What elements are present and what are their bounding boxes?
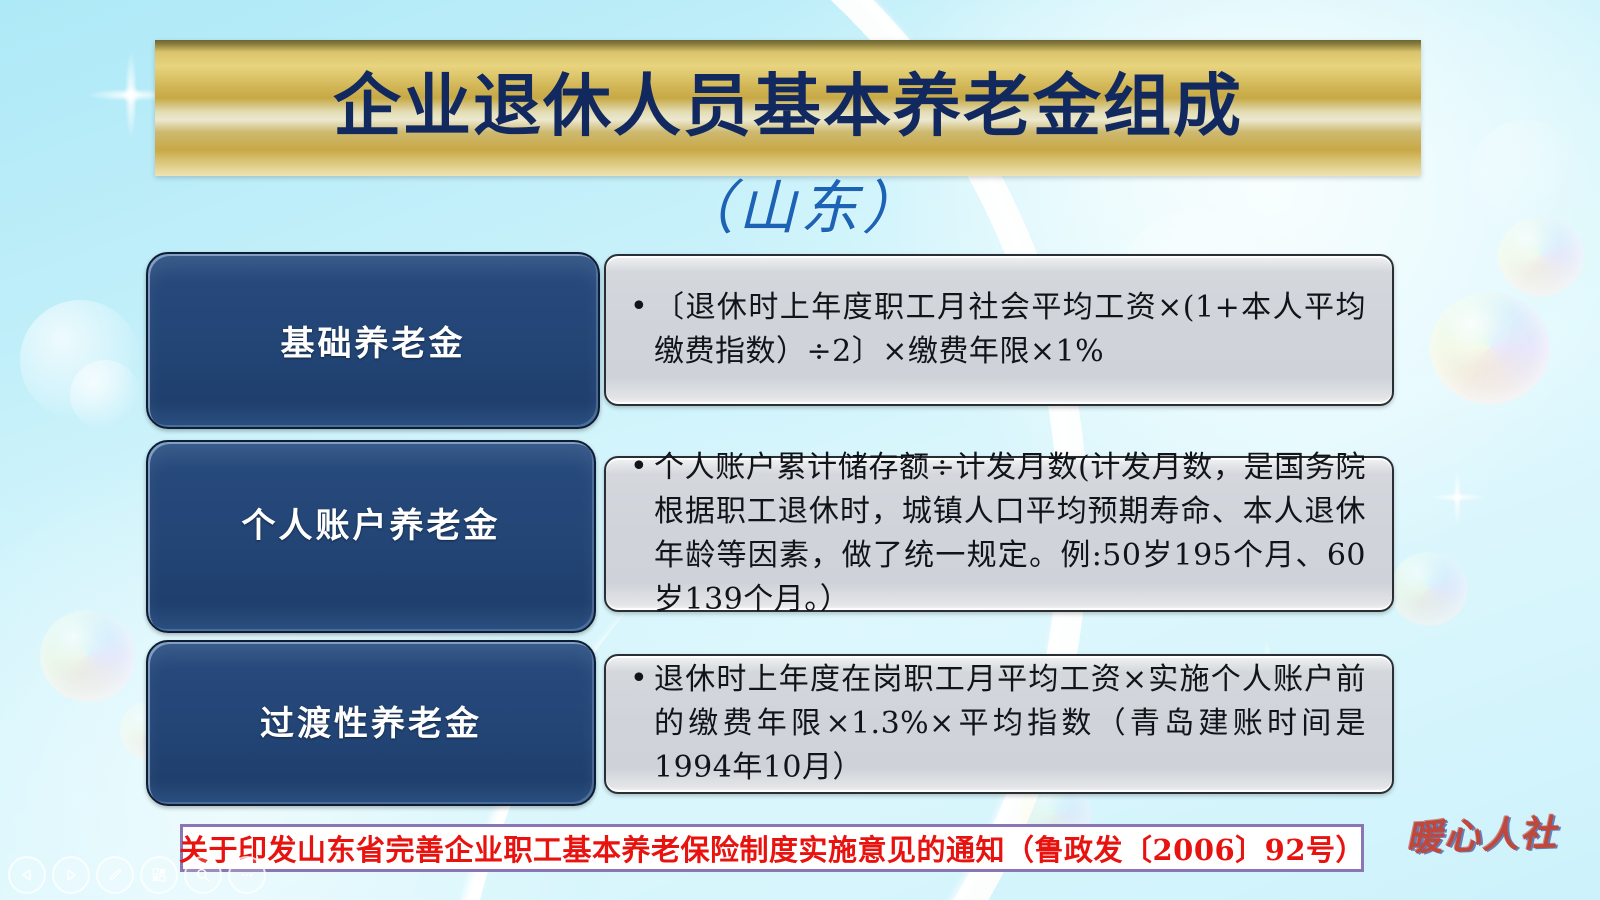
bullet-list: 〔退休时上年度职工月社会平均工资×(1+本人平均缴费指数）÷2〕×缴费年限×1% <box>628 286 1366 374</box>
list-item: 个人账户累计储存额÷计发月数(计发月数，是国务院根据职工退休时，城镇人口平均预期… <box>654 446 1366 621</box>
ellipsis-icon <box>239 867 255 883</box>
previous-slide-button[interactable] <box>8 856 46 894</box>
list-item: 退休时上年度在岗职工月平均工资×实施个人账户前的缴费年限×1.3%×平均指数（青… <box>654 658 1366 789</box>
bullet-list: 退休时上年度在岗职工月平均工资×实施个人账户前的缴费年限×1.3%×平均指数（青… <box>628 658 1366 789</box>
next-slide-button[interactable] <box>52 856 90 894</box>
triangle-left-icon <box>20 868 34 882</box>
row-label-transitional-pension[interactable]: 过渡性养老金 <box>146 640 596 806</box>
slideshow-toolbar <box>8 856 266 894</box>
row-content-transitional-pension: 退休时上年度在岗职工月平均工资×实施个人账户前的缴费年限×1.3%×平均指数（青… <box>604 654 1394 794</box>
row-label-basic-pension[interactable]: 基础养老金 <box>146 252 600 429</box>
pen-icon <box>107 867 123 883</box>
zoom-button[interactable] <box>184 856 222 894</box>
magnifier-icon <box>195 867 211 883</box>
row-label-text: 个人账户养老金 <box>242 498 501 547</box>
more-options-button[interactable] <box>228 856 266 894</box>
list-item: 〔退休时上年度职工月社会平均工资×(1+本人平均缴费指数）÷2〕×缴费年限×1% <box>654 286 1366 374</box>
bullet-list: 个人账户累计储存额÷计发月数(计发月数，是国务院根据职工退休时，城镇人口平均预期… <box>628 446 1366 621</box>
pen-tool-button[interactable] <box>96 856 134 894</box>
footnote-text: 关于印发山东省完善企业职工基本养老保险制度实施意见的通知（鲁政发〔2006〕92… <box>179 827 1365 869</box>
row-label-text: 过渡性养老金 <box>260 696 482 745</box>
triangle-right-icon <box>64 868 78 882</box>
row-label-text: 基础养老金 <box>281 316 466 365</box>
slide-grid-button[interactable] <box>140 856 178 894</box>
presentation-slide: 企业退休人员基本养老金组成 （山东） 基础养老金 〔退休时上年度职工月社会平均工… <box>0 0 1600 900</box>
row-content-personal-account-pension: 个人账户累计储存额÷计发月数(计发月数，是国务院根据职工退休时，城镇人口平均预期… <box>604 456 1394 612</box>
grid-icon <box>151 867 167 883</box>
pension-components-table: 基础养老金 〔退休时上年度职工月社会平均工资×(1+本人平均缴费指数）÷2〕×缴… <box>0 0 1600 900</box>
row-content-basic-pension: 〔退休时上年度职工月社会平均工资×(1+本人平均缴费指数）÷2〕×缴费年限×1% <box>604 254 1394 406</box>
footnote-banner: 关于印发山东省完善企业职工基本养老保险制度实施意见的通知（鲁政发〔2006〕92… <box>180 824 1364 872</box>
row-label-personal-account-pension[interactable]: 个人账户养老金 <box>146 440 596 633</box>
